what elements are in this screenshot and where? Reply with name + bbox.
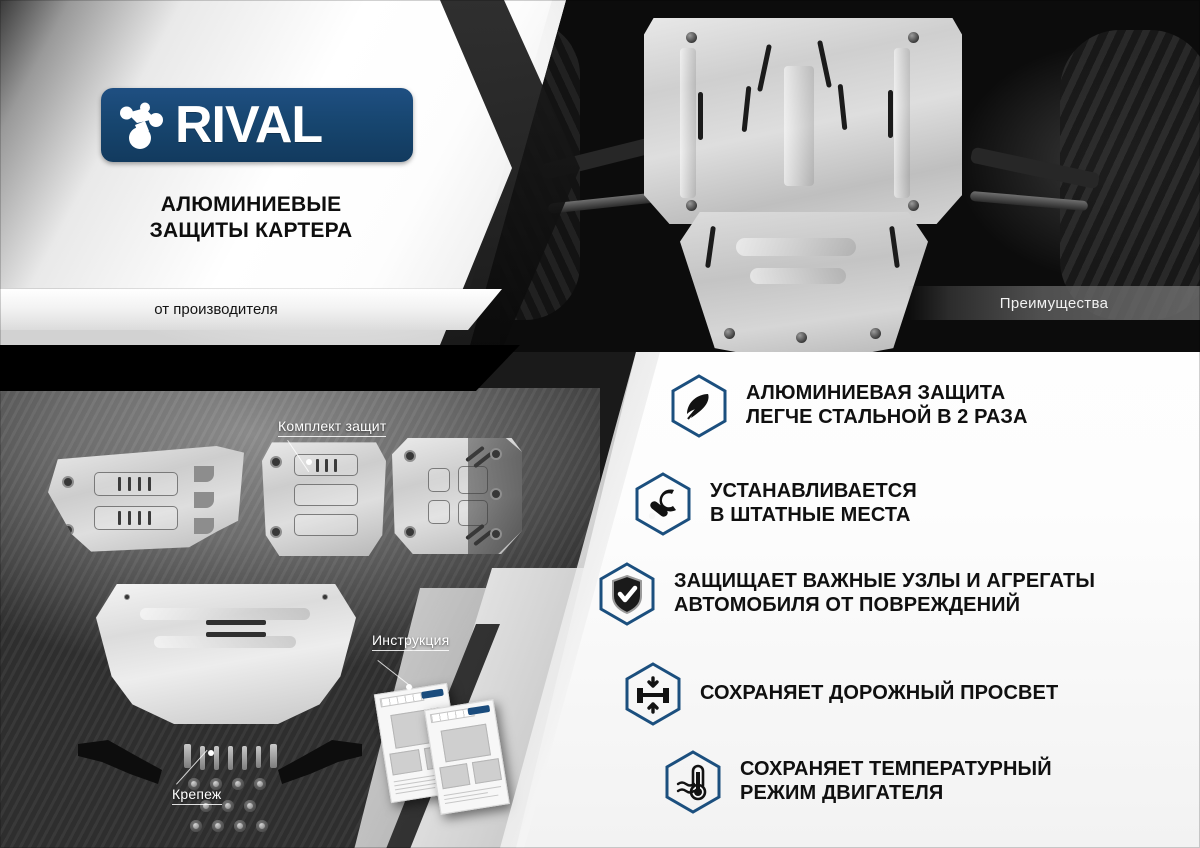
- car-underbody-photo: Преимущества: [500, 0, 1200, 352]
- advantage-item-4: СОХРАНЯЕТ ДОРОЖНЫЙ ПРОСВЕТ: [624, 662, 1058, 726]
- subtitle-band: от производителя: [0, 289, 502, 330]
- advantage-item-3: ЗАЩИЩАЕТ ВАЖНЫЕ УЗЛЫ И АГРЕГАТЫ АВТОМОБИ…: [598, 562, 1095, 626]
- rival-logo[interactable]: RIVAL: [101, 88, 413, 162]
- advantage-5-line2: РЕЖИМ ДВИГАТЕЛЯ: [740, 782, 1052, 806]
- page-title-line1: АЛЮМИНИЕВЫЕ: [101, 192, 401, 218]
- shield-check-icon: [598, 562, 656, 626]
- advantage-item-5: СОХРАНЯЕТ ТЕМПЕРАТУРНЫЙ РЕЖИМ ДВИГАТЕЛЯ: [664, 750, 1052, 814]
- poster-root: Преимущества: [0, 0, 1200, 848]
- advantage-4-line1: СОХРАНЯЕТ ДОРОЖНЫЙ ПРОСВЕТ: [700, 682, 1058, 706]
- rival-logo-text: RIVAL: [175, 99, 322, 151]
- installed-skid-plate-lower: [680, 212, 928, 352]
- page-title: АЛЮМИНИЕВЫЕ ЗАЩИТЫ КАРТЕРА: [101, 192, 401, 243]
- advantages-badge: Преимущества: [908, 286, 1200, 320]
- page-title-line2: ЗАЩИТЫ КАРТЕРА: [101, 218, 401, 244]
- wrench-icon: [634, 472, 692, 536]
- advantage-text-2: УСТАНАВЛИВАЕТСЯ В ШТАТНЫЕ МЕСТА: [710, 480, 917, 527]
- advantage-5-line1: СОХРАНЯЕТ ТЕМПЕРАТУРНЫЙ: [740, 758, 1052, 782]
- advantage-3-line2: АВТОМОБИЛЯ ОТ ПОВРЕЖДЕНИЙ: [674, 594, 1095, 618]
- advantages-list: АЛЮМИНИЕВАЯ ЗАЩИТА ЛЕГЧЕ СТАЛЬНОЙ В 2 РА…: [0, 352, 1200, 848]
- molecule-icon: [115, 97, 173, 153]
- advantage-2-line1: УСТАНАВЛИВАЕТСЯ: [710, 480, 917, 504]
- advantage-text-5: СОХРАНЯЕТ ТЕМПЕРАТУРНЫЙ РЕЖИМ ДВИГАТЕЛЯ: [740, 758, 1052, 805]
- advantage-2-line2: В ШТАТНЫЕ МЕСТА: [710, 504, 917, 528]
- subtitle-text: от производителя: [154, 301, 277, 318]
- leaf-icon: [670, 374, 728, 438]
- advantage-text-4: СОХРАНЯЕТ ДОРОЖНЫЙ ПРОСВЕТ: [700, 682, 1058, 706]
- advantages-badge-label: Преимущества: [1000, 295, 1108, 312]
- advantage-3-line1: ЗАЩИЩАЕТ ВАЖНЫЕ УЗЛЫ И АГРЕГАТЫ: [674, 570, 1095, 594]
- installed-skid-plate-upper: [644, 18, 962, 224]
- advantage-text-1: АЛЮМИНИЕВАЯ ЗАЩИТА ЛЕГЧЕ СТАЛЬНОЙ В 2 РА…: [746, 382, 1028, 429]
- ground-clearance-icon: [624, 662, 682, 726]
- advantage-text-3: ЗАЩИЩАЕТ ВАЖНЫЕ УЗЛЫ И АГРЕГАТЫ АВТОМОБИ…: [674, 570, 1095, 617]
- advantage-item-2: УСТАНАВЛИВАЕТСЯ В ШТАТНЫЕ МЕСТА: [634, 472, 917, 536]
- advantage-item-1: АЛЮМИНИЕВАЯ ЗАЩИТА ЛЕГЧЕ СТАЛЬНОЙ В 2 РА…: [670, 374, 1028, 438]
- advantage-1-line1: АЛЮМИНИЕВАЯ ЗАЩИТА: [746, 382, 1028, 406]
- thermometer-icon: [664, 750, 722, 814]
- advantage-1-line2: ЛЕГЧЕ СТАЛЬНОЙ В 2 РАЗА: [746, 406, 1028, 430]
